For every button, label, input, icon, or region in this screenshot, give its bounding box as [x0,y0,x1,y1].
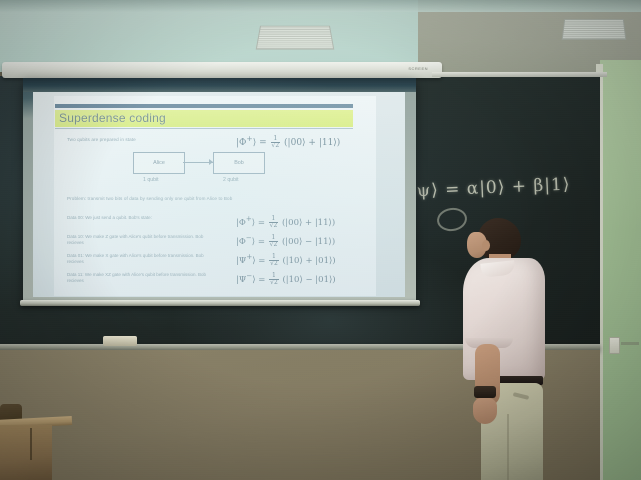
formula-ket: |Φ [236,138,246,148]
slide-divider [55,128,353,129]
screen-weight-bar[interactable] [20,300,420,306]
formula-body: (|10⟩ − |01⟩) [282,275,335,285]
formula-ket-close: ⟩ [253,138,257,148]
formula-ket-close: ⟩ [252,256,255,266]
data-row-description: Data 00: We just send a qubit. Bob's sta… [67,215,217,221]
slide-title: Superdense coding [59,111,166,125]
presenter-hand [473,398,497,424]
screen-top-band [23,78,416,92]
formula-fraction: 1 √2 [271,136,281,149]
fraction-denominator: √2 [271,143,281,149]
formula-body: (|00⟩ + |11⟩) [284,138,340,148]
desk-body [0,425,52,480]
presenter [455,218,575,480]
slide-prep-text: Two qubits are prepared in state [67,137,136,143]
slide-data-row: Data 10: We make Z gate with Alice's qub… [67,233,357,252]
diagram-node-alice: Alice [133,152,185,174]
data-row-description: Data 01: We make X gate with Alice's qub… [67,253,217,264]
formula-ket: |Ψ [236,275,246,285]
formula-ket-close: ⟩ [252,237,255,247]
right-green-wall [600,60,641,480]
slide-data-row: Data 01: We make X gate with Alice's qub… [67,252,357,271]
formula-eq: = [258,237,265,247]
formula-fraction: 1 √2 [269,235,279,248]
fraction-denominator: √2 [269,223,279,229]
ceiling-seam [0,0,641,12]
formula-fraction: 1 √2 [269,254,279,267]
fraction-denominator: √2 [269,242,279,248]
ceiling-vent-icon [562,19,627,40]
fraction-denominator: √2 [269,280,279,286]
light-switch[interactable] [609,337,620,354]
slide-top-rule [55,104,353,108]
slide-data-row: Data 11: We make XZ gate with Alice's qu… [67,271,357,290]
wall-molding [621,342,639,345]
node-alice-label: Alice [153,160,165,166]
screen-roller-housing[interactable]: SCREEN [2,62,442,78]
roller-brand-label: SCREEN [408,66,428,71]
formula-body: (|00⟩ + |11⟩) [282,218,335,228]
formula-ket: |Ψ [236,256,246,266]
data-row-description: Data 10: We make Z gate with Alice's qub… [67,234,217,245]
formula-eq: = [258,256,265,266]
qubit-label-bob: 2 qubit [223,177,239,183]
slide-main-formula: |Φ+⟩ = 1 √2 (|00⟩ + |11⟩) [236,134,340,149]
ceiling-vent-icon [256,26,335,50]
slide-data-rows: Data 00: We just send a qubit. Bob's sta… [67,214,357,290]
formula-eq: = [258,275,265,285]
formula-body: (|10⟩ + |01⟩) [282,256,335,266]
formula-fraction: 1 √2 [269,273,279,286]
data-row-formula: |Ψ+⟩ = 1 √2 (|10⟩ + |01⟩) [236,252,336,267]
qubit-label-alice: 1 qubit [143,177,159,183]
diagram-node-bob: Bob [213,152,265,174]
lecture-room-photo: |ψ⟩ = α|0⟩ + β|1⟩ SCREEN Superdense codi… [0,0,641,480]
projected-slide: Superdense coding Two qubits are prepare… [33,92,405,297]
presenter-trouser-crease [507,414,509,480]
formula-fraction: 1 √2 [269,216,279,229]
data-row-formula: |Φ−⟩ = 1 √2 (|00⟩ − |11⟩) [236,233,335,248]
formula-eq: = [258,218,265,228]
formula-body: (|00⟩ − |11⟩) [282,237,335,247]
formula-ket: |Φ [236,237,246,247]
formula-eq: = [259,138,267,148]
fraction-denominator: √2 [269,261,279,267]
slide-problem-text: Problem: transmit two bits of data by se… [67,196,232,202]
board-eraser[interactable] [103,336,137,346]
data-row-formula: |Ψ−⟩ = 1 √2 (|10⟩ − |01⟩) [236,271,336,286]
slide-data-row: Data 00: We just send a qubit. Bob's sta… [67,214,357,233]
data-row-description: Data 11: We make XZ gate with Alice's qu… [67,272,217,283]
formula-ket: |Φ [236,218,246,228]
formula-ket-close: ⟩ [252,218,255,228]
desk-panel-seam [30,428,32,460]
roller-support-rod [432,72,607,77]
data-row-formula: |Φ+⟩ = 1 √2 (|00⟩ + |11⟩) [236,214,335,229]
formula-ket-close: ⟩ [252,275,255,285]
node-bob-label: Bob [234,160,244,166]
presenter-ear [482,240,490,251]
wrist-watch [474,386,496,398]
